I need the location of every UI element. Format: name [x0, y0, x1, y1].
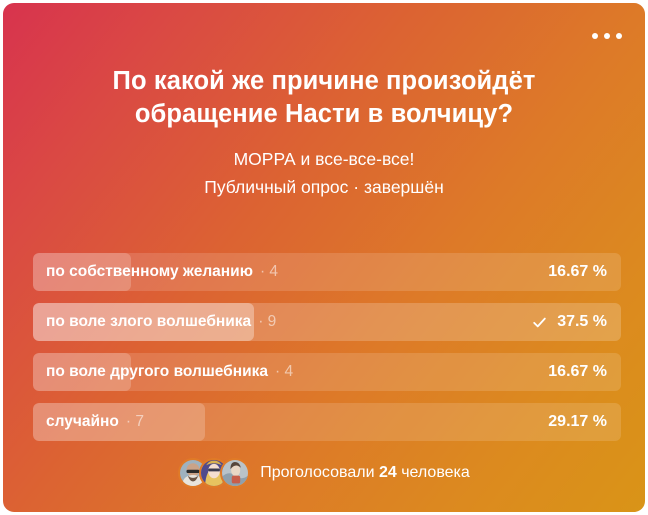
poll-option-percent: 29.17 % — [548, 413, 607, 431]
more-horizontal-icon-dot-1 — [592, 33, 598, 39]
voter-avatars[interactable] — [178, 458, 250, 488]
poll-options-list: по собственному желанию· 416.67 %по воле… — [33, 253, 621, 453]
poll-title: По какой же причине произойдёт обращение… — [63, 65, 585, 131]
poll-option-vote-count: · 9 — [258, 313, 276, 331]
poll-option-label: по воле другого волшебника — [46, 363, 268, 381]
poll-card: По какой же причине произойдёт обращение… — [3, 3, 645, 512]
poll-option-vote-count: · 4 — [260, 263, 278, 281]
poll-footer: Проголосовали 24 человека — [3, 458, 645, 488]
voters-count: 24 — [379, 464, 397, 481]
poll-option-vote-count: · 4 — [275, 363, 293, 381]
poll-header: По какой же причине произойдёт обращение… — [3, 3, 645, 199]
poll-option-label: по воле злого волшебника — [46, 313, 251, 331]
poll-option-percent: 37.5 % — [557, 313, 607, 331]
poll-option-row[interactable]: по собственному желанию· 416.67 % — [33, 253, 621, 291]
poll-option-row[interactable]: по воле другого волшебника· 416.67 % — [33, 353, 621, 391]
poll-option-content: по воле другого волшебника· 416.67 % — [33, 353, 621, 391]
poll-status-meta: Публичный опрос · завершён — [63, 175, 585, 199]
more-horizontal-icon-dot-2 — [604, 33, 610, 39]
check-icon — [531, 314, 548, 331]
voters-count-text: Проголосовали 24 человека — [260, 464, 470, 482]
voters-prefix: Проголосовали — [260, 464, 374, 481]
poll-option-percent: 16.67 % — [548, 363, 607, 381]
poll-option-label: по собственному желанию — [46, 263, 253, 281]
poll-option-label: случайно — [46, 413, 119, 431]
poll-option-percent: 16.67 % — [548, 263, 607, 281]
avatar[interactable] — [220, 458, 250, 488]
poll-option-row[interactable]: случайно· 729.17 % — [33, 403, 621, 441]
more-options-button[interactable] — [590, 23, 624, 49]
poll-option-row[interactable]: по воле злого волшебника· 937.5 % — [33, 303, 621, 341]
poll-option-vote-count: · 7 — [126, 413, 144, 431]
poll-option-content: по собственному желанию· 416.67 % — [33, 253, 621, 291]
voters-suffix: человека — [401, 464, 470, 481]
poll-option-content: по воле злого волшебника· 937.5 % — [33, 303, 621, 341]
poll-option-content: случайно· 729.17 % — [33, 403, 621, 441]
poll-author: МОРРА и все-все-все! — [63, 147, 585, 171]
more-horizontal-icon-dot-3 — [616, 33, 622, 39]
